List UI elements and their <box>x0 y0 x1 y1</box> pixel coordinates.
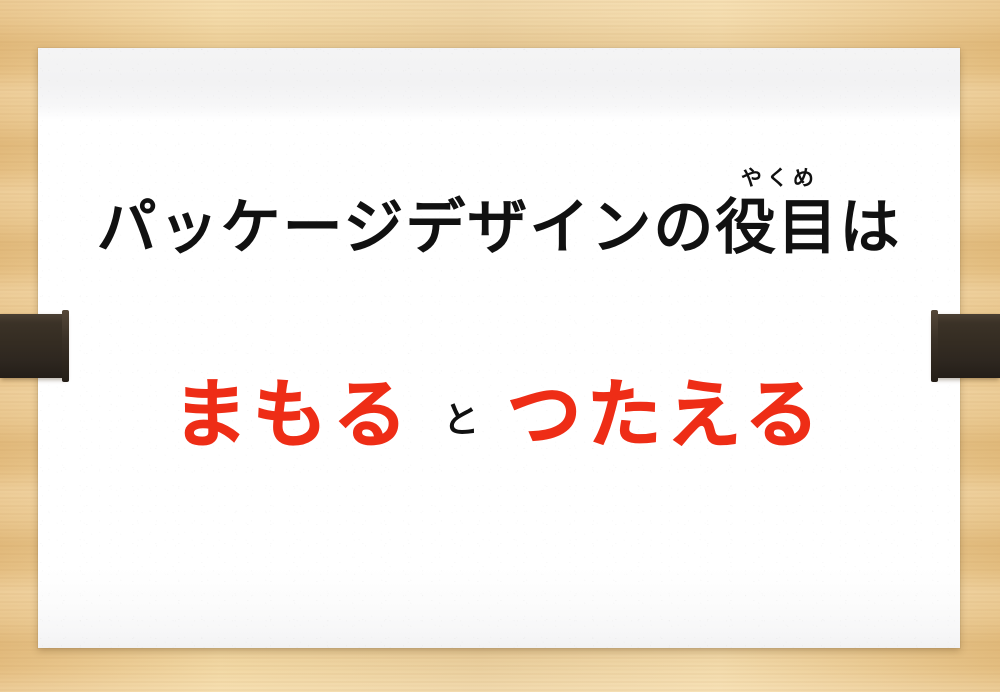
keyword-tsutaeru: つたえる <box>507 378 825 452</box>
binder-clip-left-icon <box>0 314 66 378</box>
keyword-mamoru: まもる <box>173 378 413 452</box>
keyword-conjunction: と <box>443 403 479 439</box>
kanji-yakume: 役目 <box>715 198 839 258</box>
headline-suffix: は <box>839 198 901 258</box>
ruby-group-yakume: やくめ 役目 <box>715 168 839 258</box>
whiteboard-paper: パッケージデザインの やくめ 役目 は まもる と つたえる <box>38 48 960 648</box>
headline-prefix: パッケージデザインの <box>97 198 716 258</box>
furigana-yakume: やくめ <box>736 168 819 189</box>
slide-content: パッケージデザインの やくめ 役目 は まもる と つたえる <box>38 48 960 648</box>
binder-clip-right-icon <box>934 314 1000 378</box>
keyword-line: まもる と つたえる <box>38 378 960 452</box>
slide-stage: パッケージデザインの やくめ 役目 は まもる と つたえる <box>0 0 1000 692</box>
headline-line: パッケージデザインの やくめ 役目 は <box>38 168 960 258</box>
